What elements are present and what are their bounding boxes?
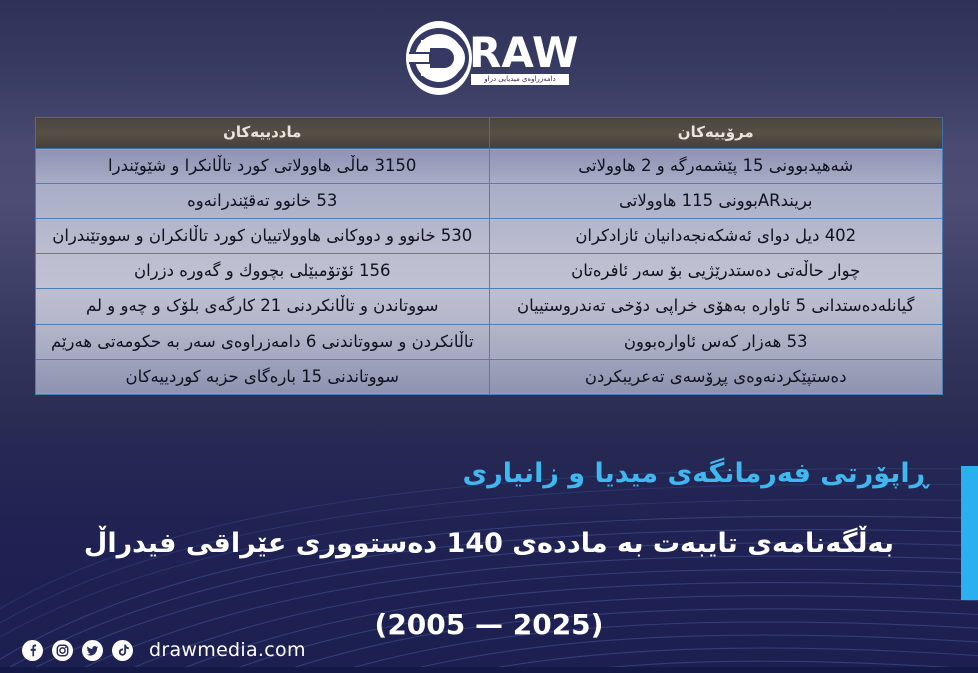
- year-range: (2005 — 2025): [0, 608, 978, 641]
- statistics-table: مرۆییەکان ماددییەکان شەهیدبوونی 15 پێشمە…: [35, 117, 943, 395]
- column-header-material: ماددییەکان: [36, 118, 490, 149]
- table-row: چوار حاڵەتی دەستدرێژیی بۆ سەر ئافرەتان 1…: [36, 254, 943, 289]
- column-header-human: مرۆییەکان: [489, 118, 943, 149]
- statistics-table-wrapper: مرۆییەکان ماددییەکان شەهیدبوونی 15 پێشمە…: [35, 117, 943, 395]
- footer-bar: drawmedia.com: [22, 639, 306, 661]
- table-row: گیانلەدەستدانی 5 ئاواره بەهۆی خراپی دۆخی…: [36, 289, 943, 324]
- logo-wordmark: RAW: [469, 32, 578, 74]
- table-row: دەستپێکردنەوەی پڕۆسەی تەعریبکردن سووتاند…: [36, 359, 943, 394]
- report-subtitle: ڕاپۆرتی فەرمانگەی میدیا و زانیاری: [20, 458, 950, 489]
- website-url[interactable]: drawmedia.com: [149, 639, 306, 661]
- twitter-icon[interactable]: [82, 640, 103, 661]
- facebook-icon[interactable]: [22, 640, 43, 661]
- cell-material: 53 خانوو تەقێندرانەوە: [36, 184, 490, 219]
- cell-material: تاڵانکردن و سووتاندنی 6 دامەزراوەی سەر ب…: [36, 324, 490, 359]
- table-row: بریندARبوونی 115 هاوولاتی 53 خانوو تەقێن…: [36, 184, 943, 219]
- logo-subtext: دامەزراوەی میدیایی دراو: [471, 74, 569, 85]
- brand-logo: RAW دامەزراوەی میدیایی دراو: [0, 14, 978, 102]
- cell-material: 156 ئۆتۆمبێلی بچووك و گەورە دزران: [36, 254, 490, 289]
- d-oval-logo-icon: [403, 20, 475, 96]
- cell-human: دەستپێکردنەوەی پڕۆسەی تەعریبکردن: [489, 359, 943, 394]
- cell-material: 530 خانوو و دووکانی هاوولاتییان کورد تاڵ…: [36, 219, 490, 254]
- cell-material: 3150 ماڵی هاوولاتی کورد تاڵانکرا و شێوێن…: [36, 149, 490, 184]
- cell-material: سووتاندن و تاڵانکردنی 21 کارگەی بلۆک و چ…: [36, 289, 490, 324]
- page-title: بەڵگەنامەی تایبەت بە ماددەی 140 دەستووری…: [0, 528, 978, 559]
- cell-human: بریندARبوونی 115 هاوولاتی: [489, 184, 943, 219]
- cell-human: شەهیدبوونی 15 پێشمەرگە و 2 هاوولاتی: [489, 149, 943, 184]
- table-row: 402 دیل دوای ئەشکەنجەدانیان ئازادکران 53…: [36, 219, 943, 254]
- cell-human: 53 هەزار کەس ئاوارەبوون: [489, 324, 943, 359]
- poster-root: RAW دامەزراوەی میدیایی دراو مرۆییەکان ما…: [0, 0, 978, 673]
- table-body: شەهیدبوونی 15 پێشمەرگە و 2 هاوولاتی 3150…: [36, 149, 943, 395]
- table-header-row: مرۆییەکان ماددییەکان: [36, 118, 943, 149]
- footer-strip: [0, 667, 978, 673]
- instagram-icon[interactable]: [52, 640, 73, 661]
- cell-human: چوار حاڵەتی دەستدرێژیی بۆ سەر ئافرەتان: [489, 254, 943, 289]
- table-row: شەهیدبوونی 15 پێشمەرگە و 2 هاوولاتی 3150…: [36, 149, 943, 184]
- cell-human: 402 دیل دوای ئەشکەنجەدانیان ئازادکران: [489, 219, 943, 254]
- cell-material: سووتاندنی 15 بارەگای حزبە کوردییەکان: [36, 359, 490, 394]
- tiktok-icon[interactable]: [112, 640, 133, 661]
- cell-human: گیانلەدەستدانی 5 ئاواره بەهۆی خراپی دۆخی…: [489, 289, 943, 324]
- table-row: 53 هەزار کەس ئاوارەبوون تاڵانکردن و سووت…: [36, 324, 943, 359]
